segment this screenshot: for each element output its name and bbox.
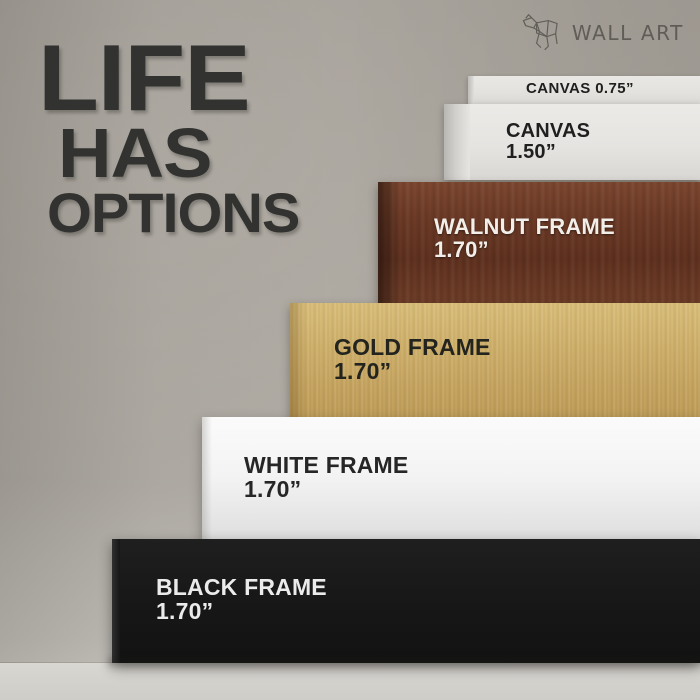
brand-logo: WALL ART: [519, 14, 684, 52]
panel-left-edge-gold-frame: [290, 303, 306, 419]
option-panel-black-frame[interactable]: BLACK FRAME 1.70”: [112, 539, 700, 663]
origami-goat-icon: [519, 14, 563, 52]
option-panel-gold-frame[interactable]: GOLD FRAME 1.70”: [290, 303, 700, 419]
brand-name: WALL ART: [572, 21, 684, 45]
headline-line-1: LIFE: [38, 38, 398, 119]
panel-left-edge-canvas-150: [444, 104, 470, 180]
option-label-black-frame: BLACK FRAME 1.70”: [156, 576, 327, 624]
panel-left-edge-black-frame: [112, 539, 120, 663]
panel-left-edge-walnut-frame: [378, 182, 400, 306]
panel-left-edge-white-frame: [202, 417, 212, 541]
headline-line-2: HAS: [58, 123, 397, 183]
option-panel-canvas-075[interactable]: CANVAS 0.75”: [468, 76, 700, 106]
option-panel-white-frame[interactable]: WHITE FRAME 1.70”: [202, 417, 700, 541]
option-panel-canvas-150[interactable]: CANVAS 1.50”: [444, 104, 700, 180]
option-label-canvas-150: CANVAS 1.50”: [506, 121, 590, 163]
stack-contact-shadow: [108, 658, 700, 670]
headline-line-3: OPTIONS: [47, 189, 388, 237]
option-label-white-frame: WHITE FRAME 1.70”: [244, 454, 408, 502]
option-label-walnut-frame: WALNUT FRAME 1.70”: [434, 216, 615, 262]
option-label-canvas-075: CANVAS 0.75”: [526, 81, 634, 97]
page-title: LIFE HAS OPTIONS: [38, 38, 378, 237]
option-label-gold-frame: GOLD FRAME 1.70”: [334, 336, 491, 384]
option-panel-walnut-frame[interactable]: WALNUT FRAME 1.70”: [378, 182, 700, 306]
product-options-scene: LIFE HAS OPTIONS WALL ART CANVAS 0.75” C…: [0, 0, 700, 700]
panel-left-edge-canvas-075: [468, 76, 474, 106]
